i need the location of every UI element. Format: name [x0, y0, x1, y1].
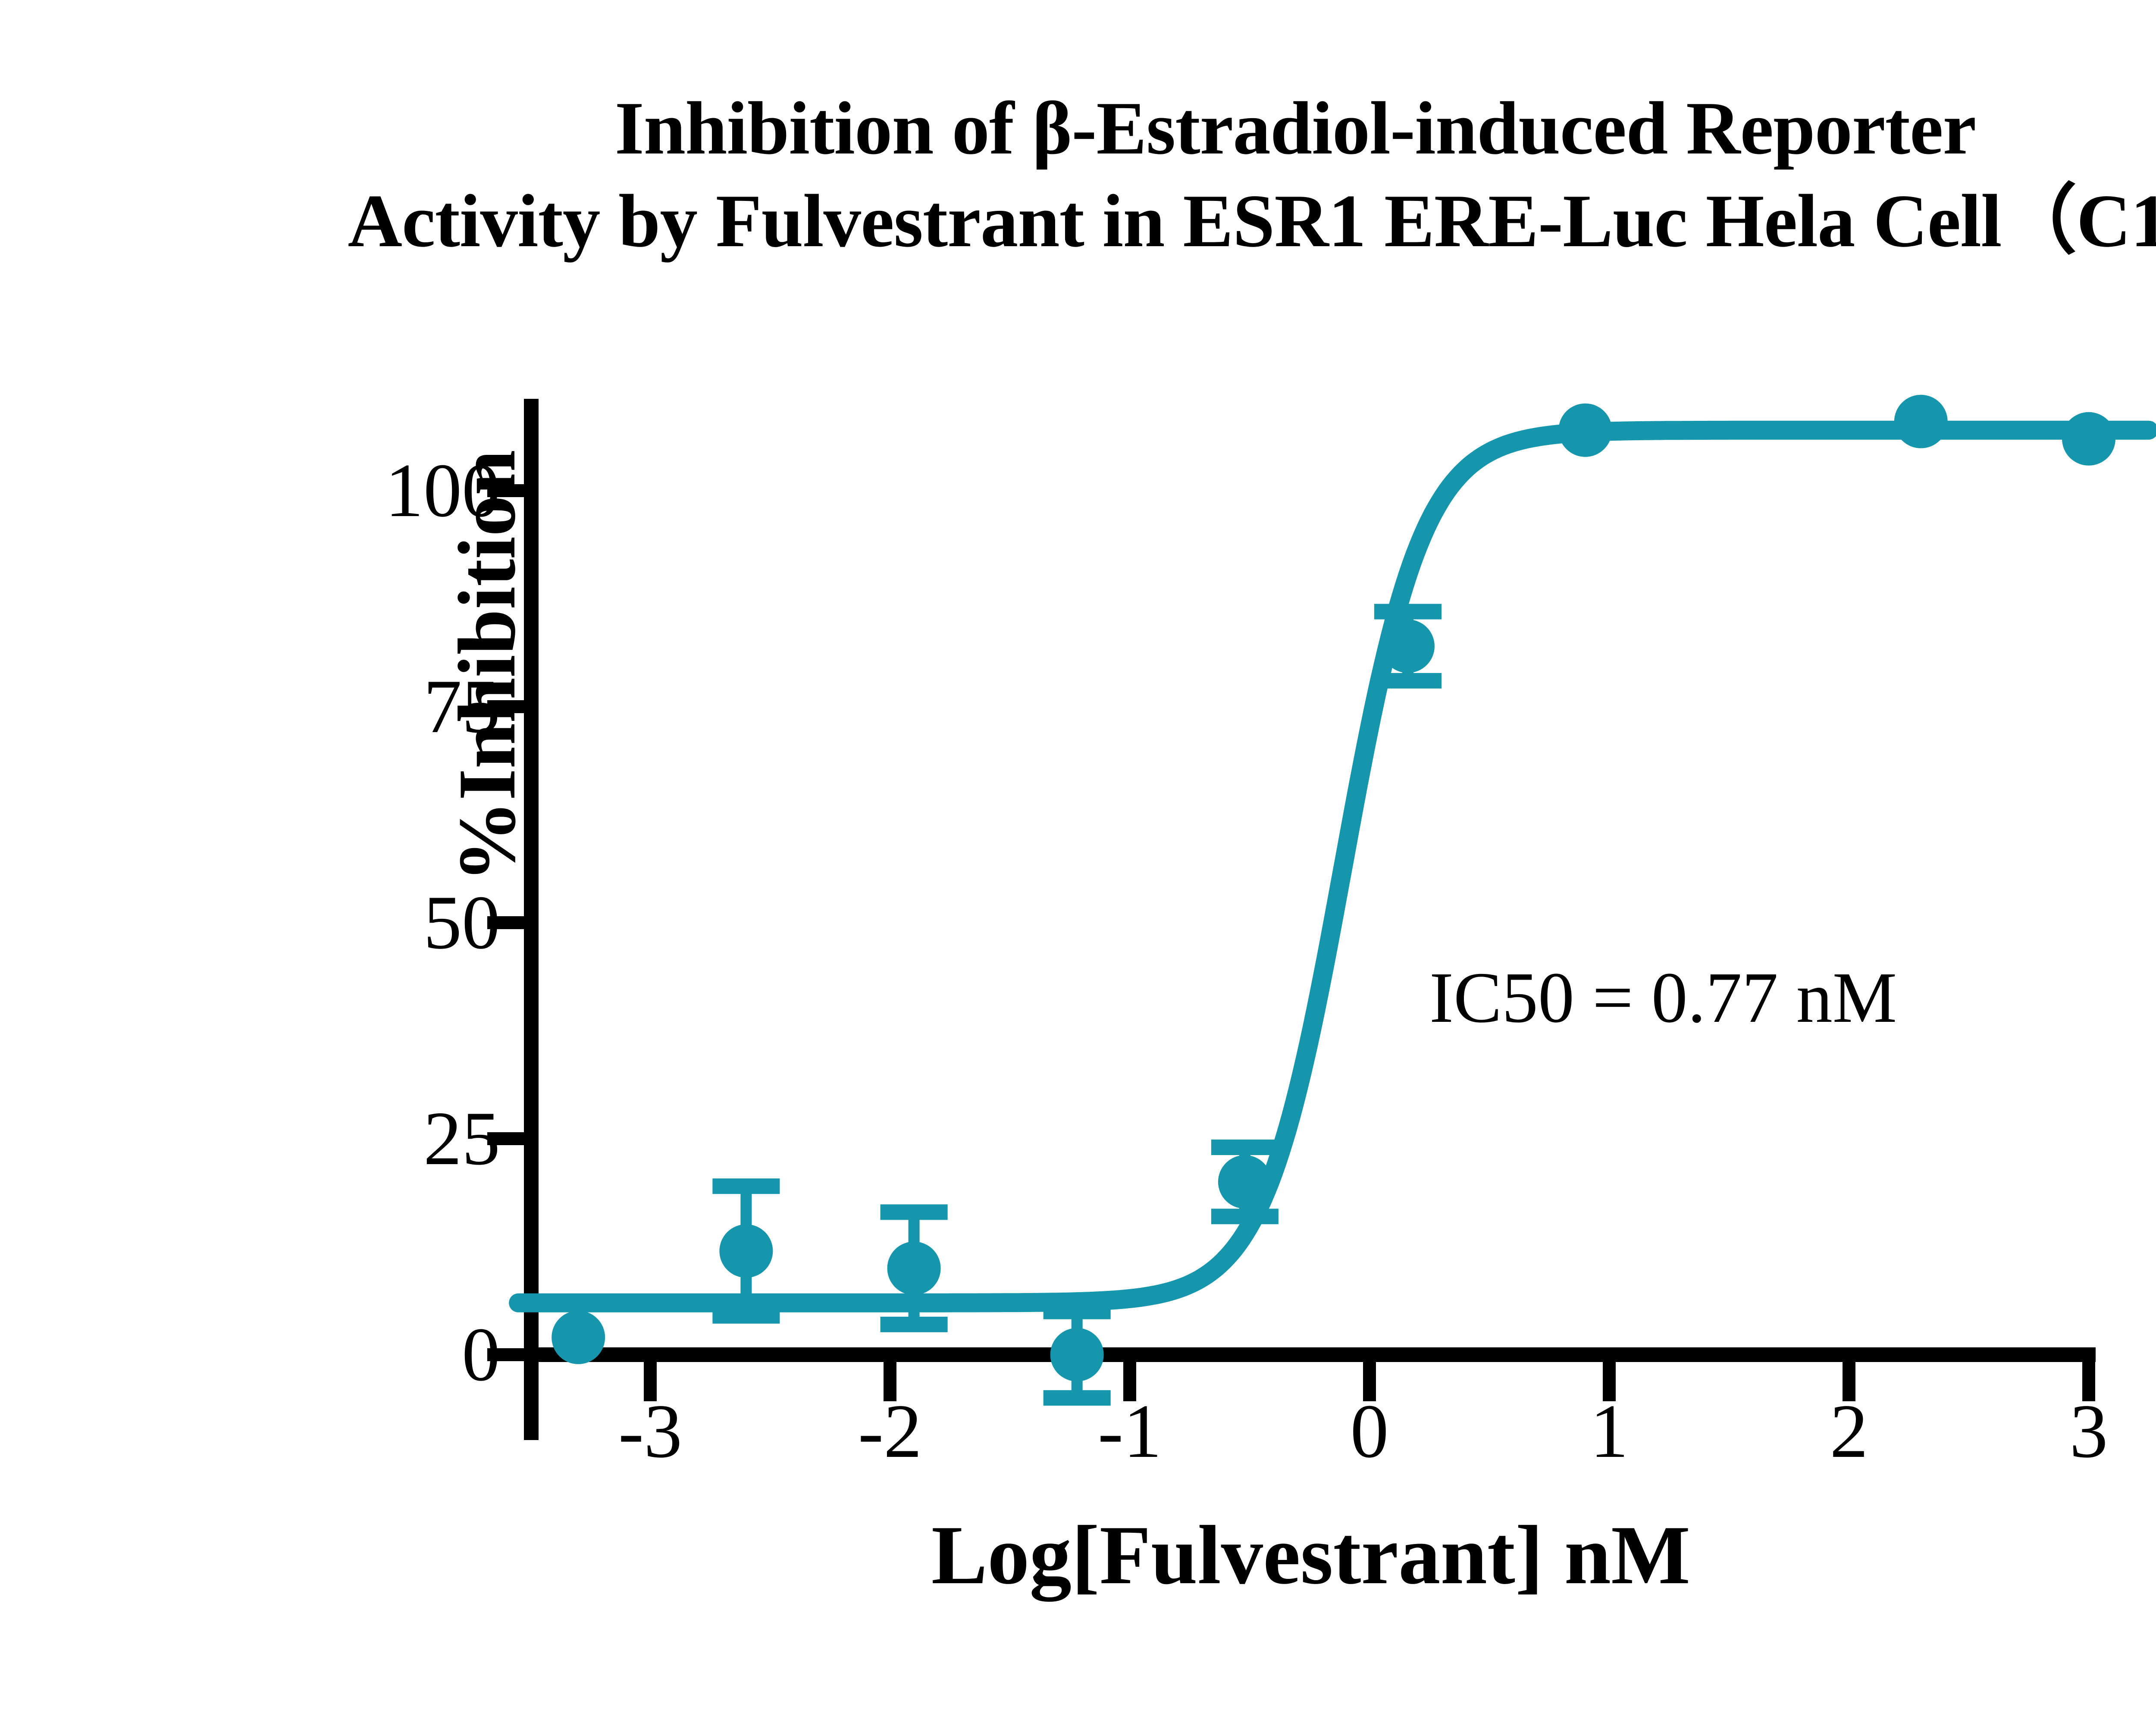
data-point [887, 1242, 941, 1295]
figure-root: Inhibition of β-Estradiol-induced Report… [0, 0, 2156, 1716]
data-point [552, 1311, 605, 1364]
error-bar-layer [712, 612, 1442, 1398]
data-point [1050, 1328, 1104, 1381]
data-point [719, 1224, 773, 1278]
plot-area [0, 0, 2156, 1716]
data-point [1894, 395, 1948, 448]
data-point [1558, 404, 1612, 457]
data-point [1218, 1155, 1272, 1209]
data-point [1381, 620, 1435, 673]
data-point [2062, 412, 2115, 466]
fit-curve [518, 430, 2149, 1303]
